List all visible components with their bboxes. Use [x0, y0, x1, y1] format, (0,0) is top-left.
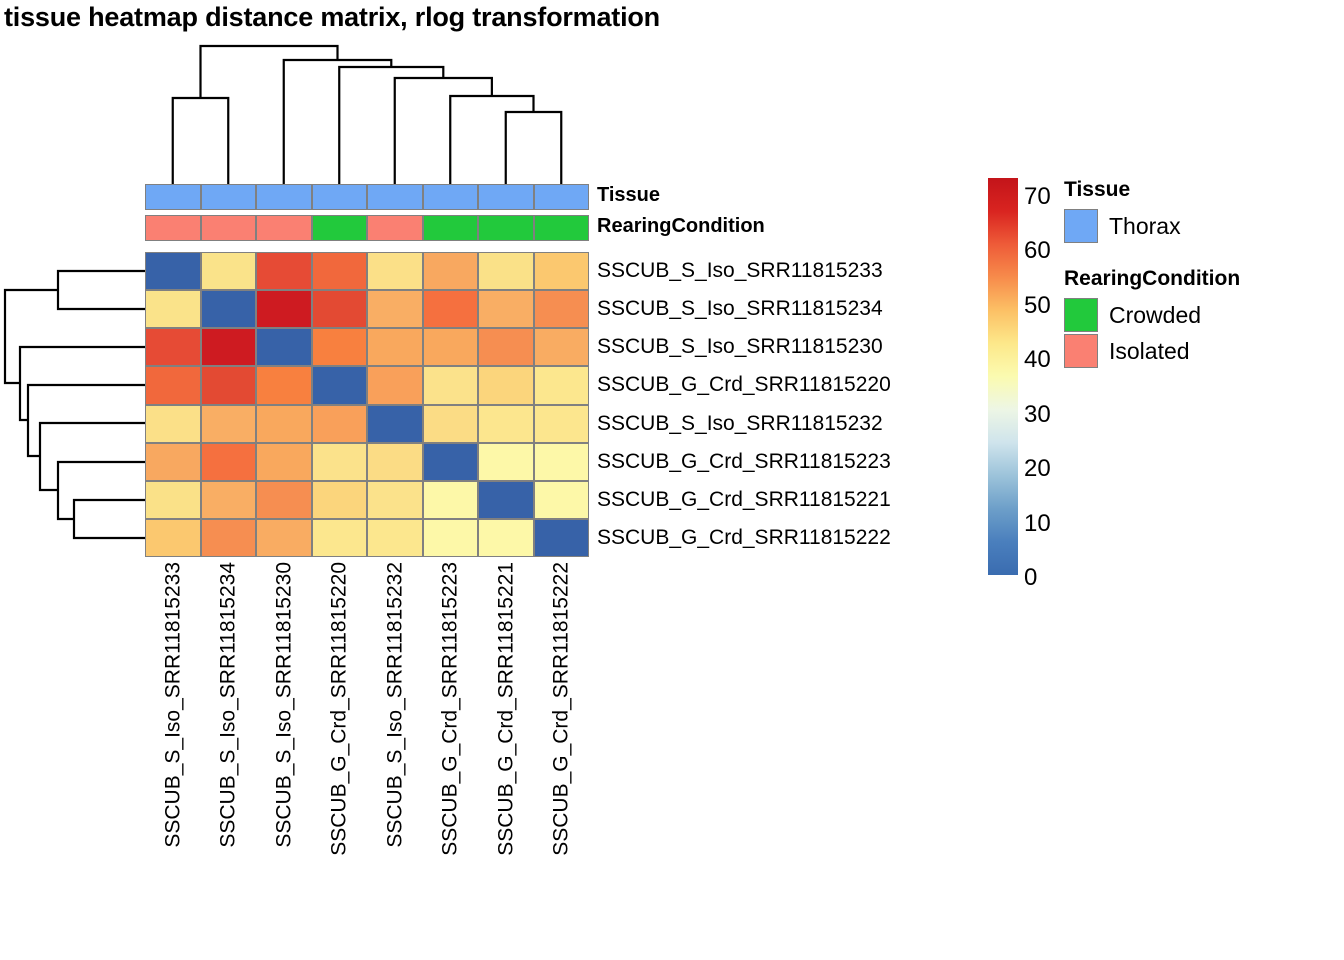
column-label-slot: SSCUB_G_Crd_SRR11815223	[423, 562, 479, 958]
annotation-bar-tissue	[145, 184, 589, 210]
heatmap-cell	[367, 481, 423, 519]
dendro-branch	[201, 46, 338, 98]
legend-swatch	[1064, 298, 1098, 332]
row-label: SSCUB_S_Iso_SRR11815230	[597, 328, 997, 366]
heatmap-cell	[367, 405, 423, 443]
heatmap-cell	[423, 481, 479, 519]
column-label: SSCUB_S_Iso_SRR11815230	[273, 562, 294, 848]
annotation-cell-tissue	[145, 184, 201, 210]
heatmap-cell	[145, 290, 201, 328]
column-dendrogram	[0, 0, 1344, 190]
heatmap-cell	[256, 405, 312, 443]
heatmap-cell	[312, 328, 368, 366]
heatmap-cell	[312, 252, 368, 290]
legend-label: Crowded	[1109, 302, 1201, 329]
colorbar-tick-label: 30	[1024, 401, 1051, 429]
dendro-branch	[284, 60, 392, 184]
heatmap-cell	[256, 481, 312, 519]
heatmap-cell	[367, 252, 423, 290]
heatmap-cell	[534, 366, 590, 404]
column-label-slot: SSCUB_S_Iso_SRR11815233	[145, 562, 201, 958]
heatmap-cell	[312, 481, 368, 519]
column-label: SSCUB_G_Crd_SRR11815221	[495, 562, 516, 856]
heatmap-cell	[256, 290, 312, 328]
colorbar-tick-label: 60	[1024, 237, 1051, 265]
heatmap-cell	[201, 328, 257, 366]
dendro-branch	[20, 347, 145, 420]
heatmap-cell	[367, 519, 423, 557]
annotation-cell-rearing-condition	[423, 215, 479, 241]
column-label-slot: SSCUB_G_Crd_SRR11815222	[534, 562, 590, 958]
colorbar-tick-label: 0	[1024, 564, 1037, 592]
heatmap-cell	[201, 405, 257, 443]
heatmap-cell	[534, 290, 590, 328]
heatmap-cell	[478, 481, 534, 519]
legend-title: RearingCondition	[1064, 267, 1240, 291]
dendro-branch	[58, 271, 145, 309]
legend-entry[interactable]: Isolated	[1064, 334, 1190, 368]
row-label: SSCUB_S_Iso_SRR11815232	[597, 405, 997, 443]
annotation-cell-tissue	[423, 184, 479, 210]
annotation-cell-tissue	[312, 184, 368, 210]
heatmap-cell	[312, 443, 368, 481]
heatmap-cell	[367, 443, 423, 481]
legend-entry[interactable]: Crowded	[1064, 298, 1201, 332]
column-label-slot: SSCUB_G_Crd_SRR11815220	[312, 562, 368, 958]
column-label-slot: SSCUB_G_Crd_SRR11815221	[478, 562, 534, 958]
heatmap-cell	[478, 366, 534, 404]
heatmap-cell	[534, 481, 590, 519]
dendro-branch	[40, 423, 145, 490]
dendro-branch	[173, 98, 229, 184]
dendro-branch	[506, 112, 562, 184]
heatmap-cell	[478, 519, 534, 557]
heatmap-cell	[478, 328, 534, 366]
column-label-list: SSCUB_S_Iso_SRR11815233SSCUB_S_Iso_SRR11…	[145, 562, 589, 958]
heatmap-cell	[201, 366, 257, 404]
heatmap-cell	[423, 366, 479, 404]
heatmap-cell	[423, 443, 479, 481]
annotation-cell-tissue	[201, 184, 257, 210]
annotation-cell-rearing-condition	[256, 215, 312, 241]
heatmap-cell	[145, 481, 201, 519]
legend-swatch	[1064, 209, 1098, 243]
column-label: SSCUB_S_Iso_SRR11815233	[162, 562, 183, 848]
column-label: SSCUB_G_Crd_SRR11815223	[440, 562, 461, 856]
heatmap-cell	[256, 366, 312, 404]
column-label-slot: SSCUB_S_Iso_SRR11815232	[367, 562, 423, 958]
heatmap-cell	[145, 519, 201, 557]
row-label: SSCUB_G_Crd_SRR11815221	[597, 481, 997, 519]
heatmap-cell	[367, 328, 423, 366]
heatmap-cell	[534, 252, 590, 290]
dendro-branch	[339, 67, 443, 184]
legend-entry[interactable]: Thorax	[1064, 209, 1181, 243]
annotation-label-tissue: Tissue	[597, 184, 660, 207]
annotation-cell-rearing-condition	[367, 215, 423, 241]
heatmap-cell	[534, 519, 590, 557]
heatmap-cell	[534, 443, 590, 481]
colorbar-tick-label: 10	[1024, 510, 1051, 538]
annotation-cell-tissue	[478, 184, 534, 210]
heatmap-cell	[256, 519, 312, 557]
annotation-cell-rearing-condition	[534, 215, 590, 241]
row-label-list: SSCUB_S_Iso_SRR11815233SSCUB_S_Iso_SRR11…	[597, 252, 997, 557]
heatmap-cell	[256, 443, 312, 481]
colorbar-gradient	[988, 178, 1018, 575]
annotation-bar-rearing-condition	[145, 215, 589, 241]
heatmap-cell	[256, 328, 312, 366]
annotation-cell-rearing-condition	[312, 215, 368, 241]
annotation-cell-rearing-condition	[145, 215, 201, 241]
legend-label: Thorax	[1109, 213, 1181, 240]
colorbar-tick-label: 50	[1024, 292, 1051, 320]
heatmap-cell	[145, 328, 201, 366]
annotation-cell-tissue	[256, 184, 312, 210]
heatmap-cell	[478, 443, 534, 481]
colorbar-tick-label: 20	[1024, 455, 1051, 483]
dendro-branch	[5, 290, 58, 383]
dendro-branch	[450, 96, 533, 184]
legend-title: Tissue	[1064, 178, 1130, 202]
dendro-branch	[58, 462, 145, 519]
dendro-branch	[74, 500, 145, 538]
heatmap-cell	[423, 328, 479, 366]
column-label: SSCUB_G_Crd_SRR11815220	[329, 562, 350, 856]
heatmap-cell	[201, 519, 257, 557]
heatmap-cell	[256, 252, 312, 290]
heatmap-cell	[201, 443, 257, 481]
row-dendrogram	[0, 0, 150, 960]
annotation-label-rearing-condition: RearingCondition	[597, 215, 765, 238]
dendro-branch	[395, 78, 492, 184]
heatmap-cell	[312, 405, 368, 443]
heatmap-figure: tissue heatmap distance matrix, rlog tra…	[0, 0, 1344, 960]
heatmap-cell	[534, 405, 590, 443]
heatmap-cell	[478, 290, 534, 328]
row-label: SSCUB_S_Iso_SRR11815233	[597, 252, 997, 290]
row-label: SSCUB_G_Crd_SRR11815222	[597, 519, 997, 557]
heatmap-cell	[145, 443, 201, 481]
heatmap-cell	[201, 481, 257, 519]
column-label: SSCUB_S_Iso_SRR11815234	[218, 562, 239, 848]
heatmap-cell	[423, 519, 479, 557]
heatmap-cell	[478, 252, 534, 290]
annotation-cell-tissue	[367, 184, 423, 210]
heatmap-cell	[423, 290, 479, 328]
row-label: SSCUB_G_Crd_SRR11815223	[597, 443, 997, 481]
dendro-branch	[28, 385, 145, 456]
heatmap-cell	[423, 405, 479, 443]
heatmap-cell	[145, 366, 201, 404]
colorbar-tick-label: 70	[1024, 183, 1051, 211]
heatmap-cell	[312, 290, 368, 328]
heatmap-cell	[201, 290, 257, 328]
heatmap-cell	[145, 252, 201, 290]
legend-label: Isolated	[1109, 338, 1190, 365]
heatmap-cell	[312, 519, 368, 557]
heatmap-cell	[534, 328, 590, 366]
heatmap-cell	[478, 405, 534, 443]
heatmap-cell	[145, 405, 201, 443]
colorbar-tick-label: 40	[1024, 346, 1051, 374]
heatmap-matrix	[145, 252, 589, 557]
heatmap-cell	[201, 252, 257, 290]
annotation-cell-rearing-condition	[478, 215, 534, 241]
column-label-slot: SSCUB_S_Iso_SRR11815234	[201, 562, 257, 958]
heatmap-cell	[423, 252, 479, 290]
heatmap-cell	[367, 366, 423, 404]
annotation-cell-tissue	[534, 184, 590, 210]
row-label: SSCUB_G_Crd_SRR11815220	[597, 366, 997, 404]
column-label: SSCUB_S_Iso_SRR11815232	[384, 562, 405, 848]
column-label-slot: SSCUB_S_Iso_SRR11815230	[256, 562, 312, 958]
row-label: SSCUB_S_Iso_SRR11815234	[597, 290, 997, 328]
column-label: SSCUB_G_Crd_SRR11815222	[551, 562, 572, 856]
annotation-cell-rearing-condition	[201, 215, 257, 241]
heatmap-cell	[367, 290, 423, 328]
legend-swatch	[1064, 334, 1098, 368]
heatmap-cell	[312, 366, 368, 404]
